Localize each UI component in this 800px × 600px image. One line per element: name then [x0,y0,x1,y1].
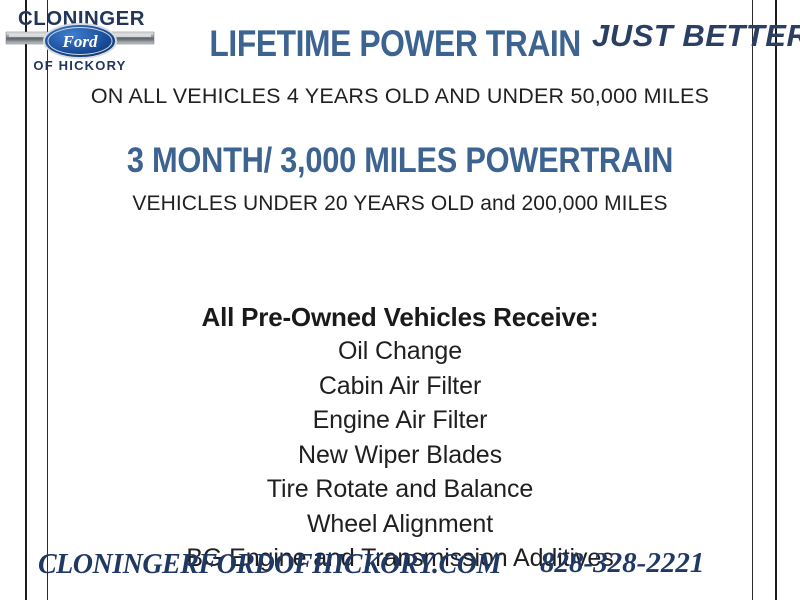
offer-headline-3month-powertrain: 3 MONTH/ 3,000 MILES POWERTRAIN [48,141,752,181]
service-item-wheel-alignment: Wheel Alignment [0,507,800,542]
tagline: JUST BETTER [592,18,800,54]
offer-headline-lifetime-powertrain: LIFETIME POWER TRAIN [209,24,570,64]
services-list: All Pre-Owned Vehicles Receive: Oil Chan… [0,300,800,576]
offer-subtext-3month-powertrain: VEHICLES UNDER 20 YEARS OLD and 200,000 … [0,192,800,216]
website-url[interactable]: CLONINGERFORDOFHICKORY.COM [38,549,501,581]
promotional-flyer: CLONINGER Ford OF HICKORY JUST BETTER LI… [0,0,800,600]
service-item-tire-rotate-and-balance: Tire Rotate and Balance [0,472,800,507]
svg-text:OF HICKORY: OF HICKORY [33,58,126,73]
service-item-oil-change: Oil Change [0,334,800,369]
service-item-engine-air-filter: Engine Air Filter [0,403,800,438]
dealership-logo: CLONINGER Ford OF HICKORY [4,6,156,74]
phone-number[interactable]: 828-328-2221 [540,547,704,580]
services-title: All Pre-Owned Vehicles Receive: [0,300,800,334]
service-item-new-wiper-blades: New Wiper Blades [0,438,800,473]
service-item-cabin-air-filter: Cabin Air Filter [0,369,800,404]
offer-subtext-lifetime-powertrain: ON ALL VEHICLES 4 YEARS OLD AND UNDER 50… [0,84,800,109]
svg-text:Ford: Ford [62,32,98,51]
